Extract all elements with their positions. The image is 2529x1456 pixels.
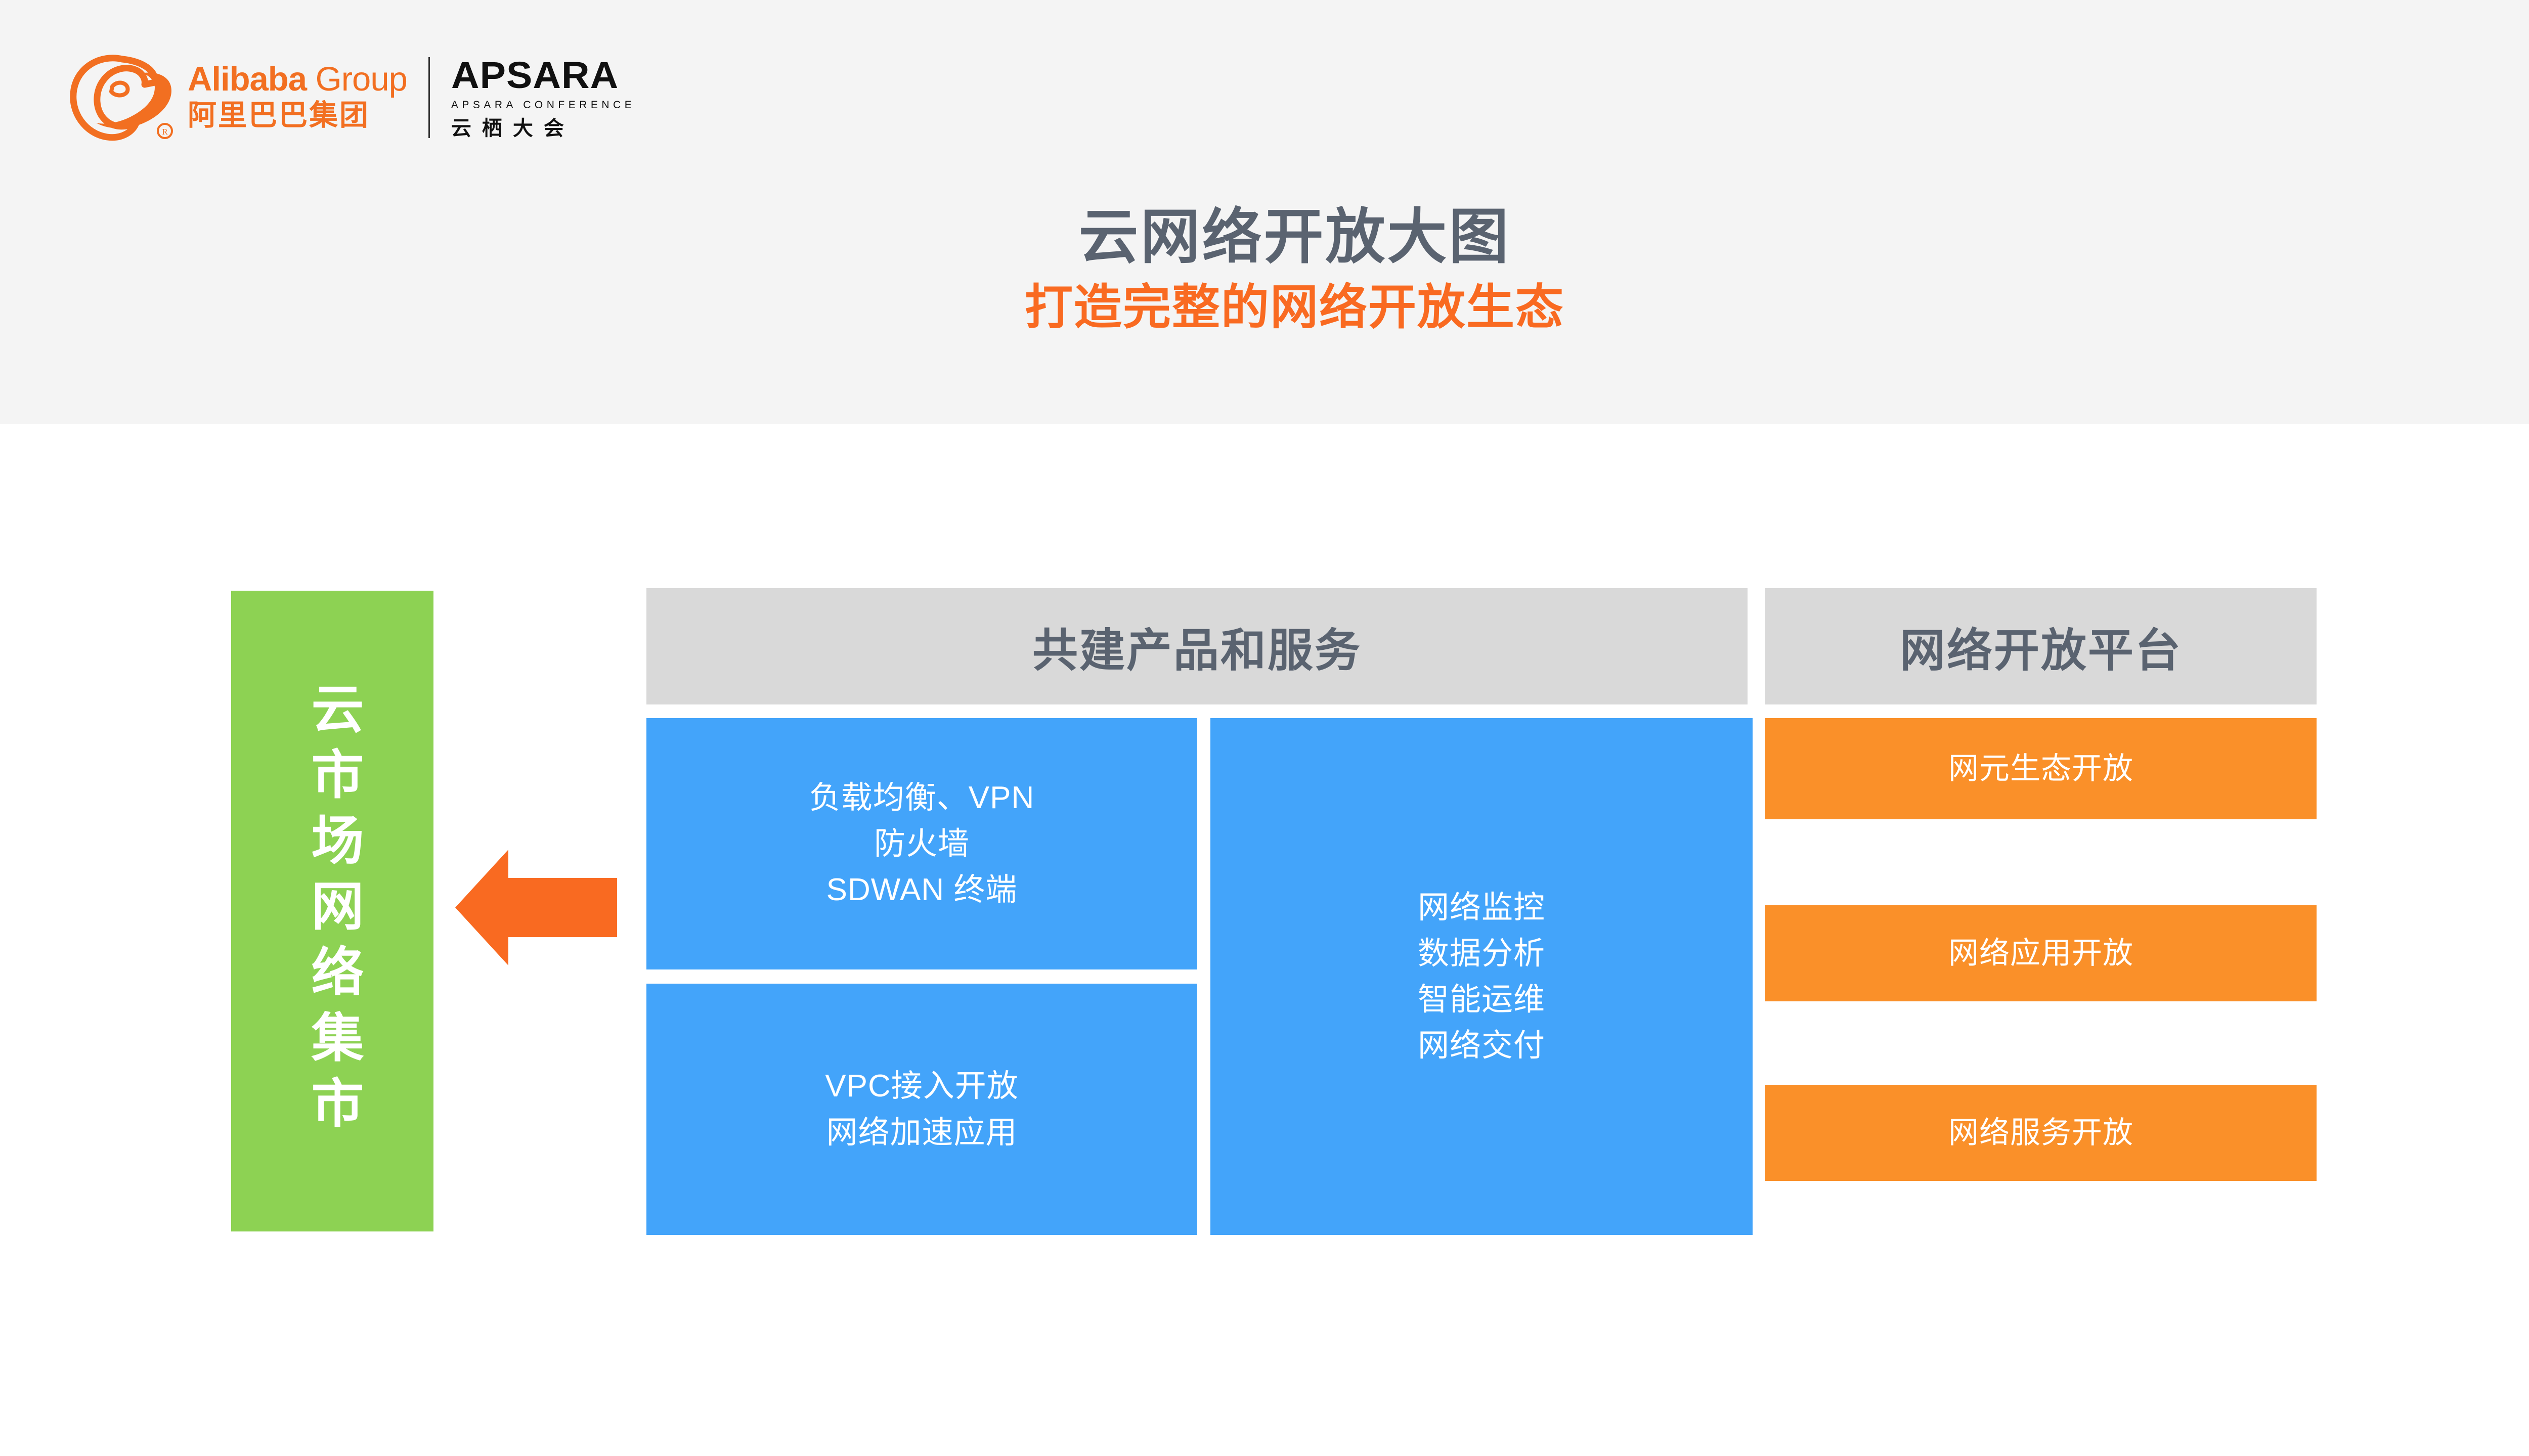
card-network-application-open[interactable]: 网络应用开放 bbox=[1765, 905, 2317, 1001]
card-line: 网络交付 bbox=[1418, 1023, 1545, 1069]
cloud-marketplace-label: 云市场网络集市 bbox=[306, 681, 359, 1141]
card-line: 网络加速应用 bbox=[826, 1110, 1017, 1156]
column-header-platform: 网络开放平台 bbox=[1765, 588, 2317, 704]
card-element-ecosystem-open[interactable]: 网元生态开放 bbox=[1765, 718, 2317, 819]
card-line: 数据分析 bbox=[1418, 931, 1545, 977]
card-line: VPC接入开放 bbox=[825, 1063, 1018, 1109]
card-line: 防火墙 bbox=[874, 821, 970, 867]
card-network-products[interactable]: 负载均衡、VPN 防火墙 SDWAN 终端 bbox=[646, 718, 1197, 969]
arrow-left-icon bbox=[455, 846, 617, 969]
column-header-coproduct-label: 共建产品和服务 bbox=[1032, 613, 1362, 679]
card-line: 网络服务开放 bbox=[1948, 1111, 2133, 1155]
card-line: 网元生态开放 bbox=[1948, 746, 2133, 791]
column-header-platform-label: 网络开放平台 bbox=[1900, 613, 2182, 679]
diagram-area: 云市场网络集市 共建产品和服务 网络开放平台 负载均衡、VPN 防火墙 SDWA… bbox=[0, 0, 2529, 1456]
card-network-service-open[interactable]: 网络服务开放 bbox=[1765, 1085, 2317, 1181]
cloud-marketplace-panel: 云市场网络集市 bbox=[231, 591, 433, 1231]
card-line: SDWAN 终端 bbox=[826, 867, 1018, 913]
card-line: 网络应用开放 bbox=[1948, 931, 2133, 976]
card-line: 网络监控 bbox=[1418, 885, 1545, 931]
card-line: 负载均衡、VPN bbox=[809, 775, 1034, 821]
card-vpc-access[interactable]: VPC接入开放 网络加速应用 bbox=[646, 984, 1197, 1235]
card-network-ops[interactable]: 网络监控 数据分析 智能运维 网络交付 bbox=[1210, 718, 1753, 1235]
card-line: 智能运维 bbox=[1418, 977, 1545, 1023]
column-header-coproduct: 共建产品和服务 bbox=[646, 588, 1748, 704]
